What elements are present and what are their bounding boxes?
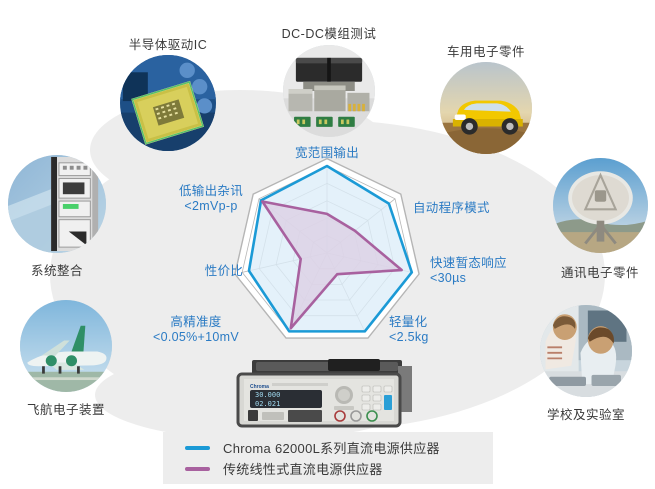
legend-item-linear: 传统线性式直流电源供应器	[185, 458, 493, 479]
radar-axis-label-high-accuracy: 高精准度 <0.05%+10mV	[153, 315, 239, 345]
radar-axis-sublabel-text: <2.5kg	[389, 330, 429, 345]
radar-axis-label-text: 轻量化	[389, 315, 427, 329]
radar-axis-label-text: 快速暂态响应	[430, 256, 507, 270]
power-supply-photo: Chroma 30.000 02.021	[228, 358, 424, 436]
radar-axis-label-text: 低输出杂讯	[179, 184, 243, 198]
radar-axis-label-cost-performance: 性价比	[205, 264, 243, 279]
chroma-power-supply-device: Chroma 30.000 02.021	[228, 358, 424, 436]
radar-axis-sublabel-text: <30µs	[430, 271, 507, 286]
legend-swatch-linear	[185, 467, 210, 471]
radar-axis-label-text: 高精准度	[170, 315, 221, 329]
legend-item-chroma: Chroma 62000L系列直流电源供应器	[185, 437, 493, 458]
legend-swatch-chroma	[185, 446, 210, 450]
radar-axis-label-lightweight: 轻量化 <2.5kg	[389, 315, 429, 345]
device-display-top: 30.000	[255, 391, 280, 399]
radar-axis-label-auto-program-mode: 自动程序模式	[413, 201, 490, 216]
legend-label-chroma: Chroma 62000L系列直流电源供应器	[223, 438, 440, 457]
radar-axis-sublabel-text: <0.05%+10mV	[153, 330, 239, 345]
radar-axis-label-fast-transient-response: 快速暂态响应 <30µs	[430, 256, 507, 286]
radar-axis-label-wide-range-output: 宽范围输出	[295, 146, 359, 161]
poster-canvas: 半导体驱动IC	[0, 0, 655, 489]
chart-legend: Chroma 62000L系列直流电源供应器 传统线性式直流电源供应器	[163, 432, 493, 484]
device-brand-text: Chroma	[250, 384, 269, 390]
radar-axis-sublabel-text: <2mVp-p	[179, 199, 243, 214]
radar-axis-label-text: 宽范围输出	[295, 146, 359, 160]
radar-axis-label-low-output-noise: 低输出杂讯 <2mVp-p	[179, 184, 243, 214]
device-display-bottom: 02.021	[255, 400, 280, 408]
radar-axis-label-text: 自动程序模式	[413, 201, 490, 215]
legend-label-linear: 传统线性式直流电源供应器	[223, 459, 383, 478]
radar-axis-label-text: 性价比	[205, 264, 243, 278]
